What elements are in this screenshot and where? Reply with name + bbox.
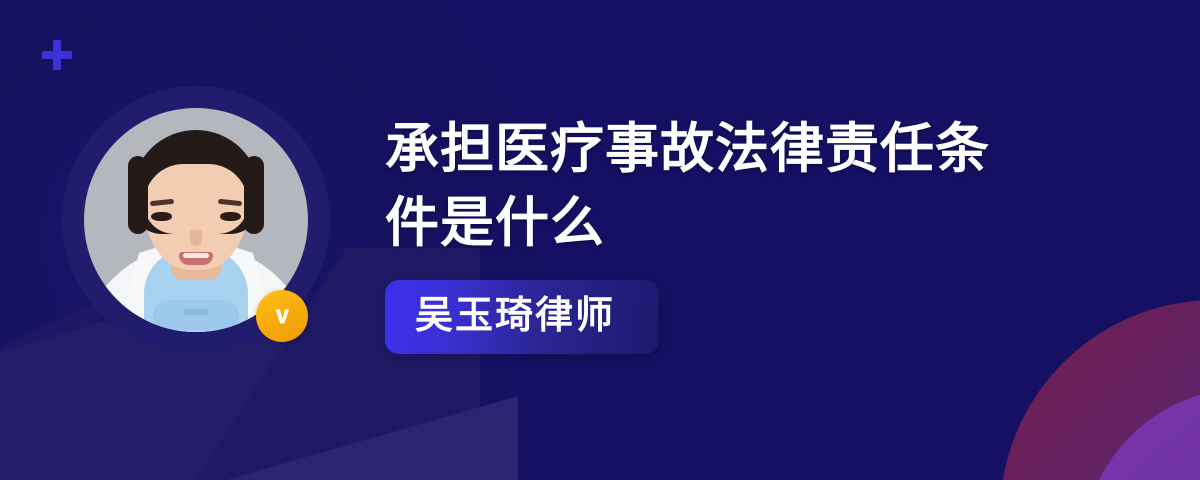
verified-check-icon — [256, 290, 308, 342]
plus-icon — [42, 40, 72, 70]
page-title: 承担医疗事故法律责任条 件是什么 — [385, 112, 1085, 260]
lawyer-article-banner: 承担医疗事故法律责任条 件是什么 吴玉琦律师 — [0, 0, 1200, 480]
avatar[interactable] — [62, 86, 330, 354]
banner-content: 承担医疗事故法律责任条 件是什么 吴玉琦律师 — [385, 112, 1085, 354]
lawyer-name-badge[interactable]: 吴玉琦律师 — [385, 280, 659, 354]
